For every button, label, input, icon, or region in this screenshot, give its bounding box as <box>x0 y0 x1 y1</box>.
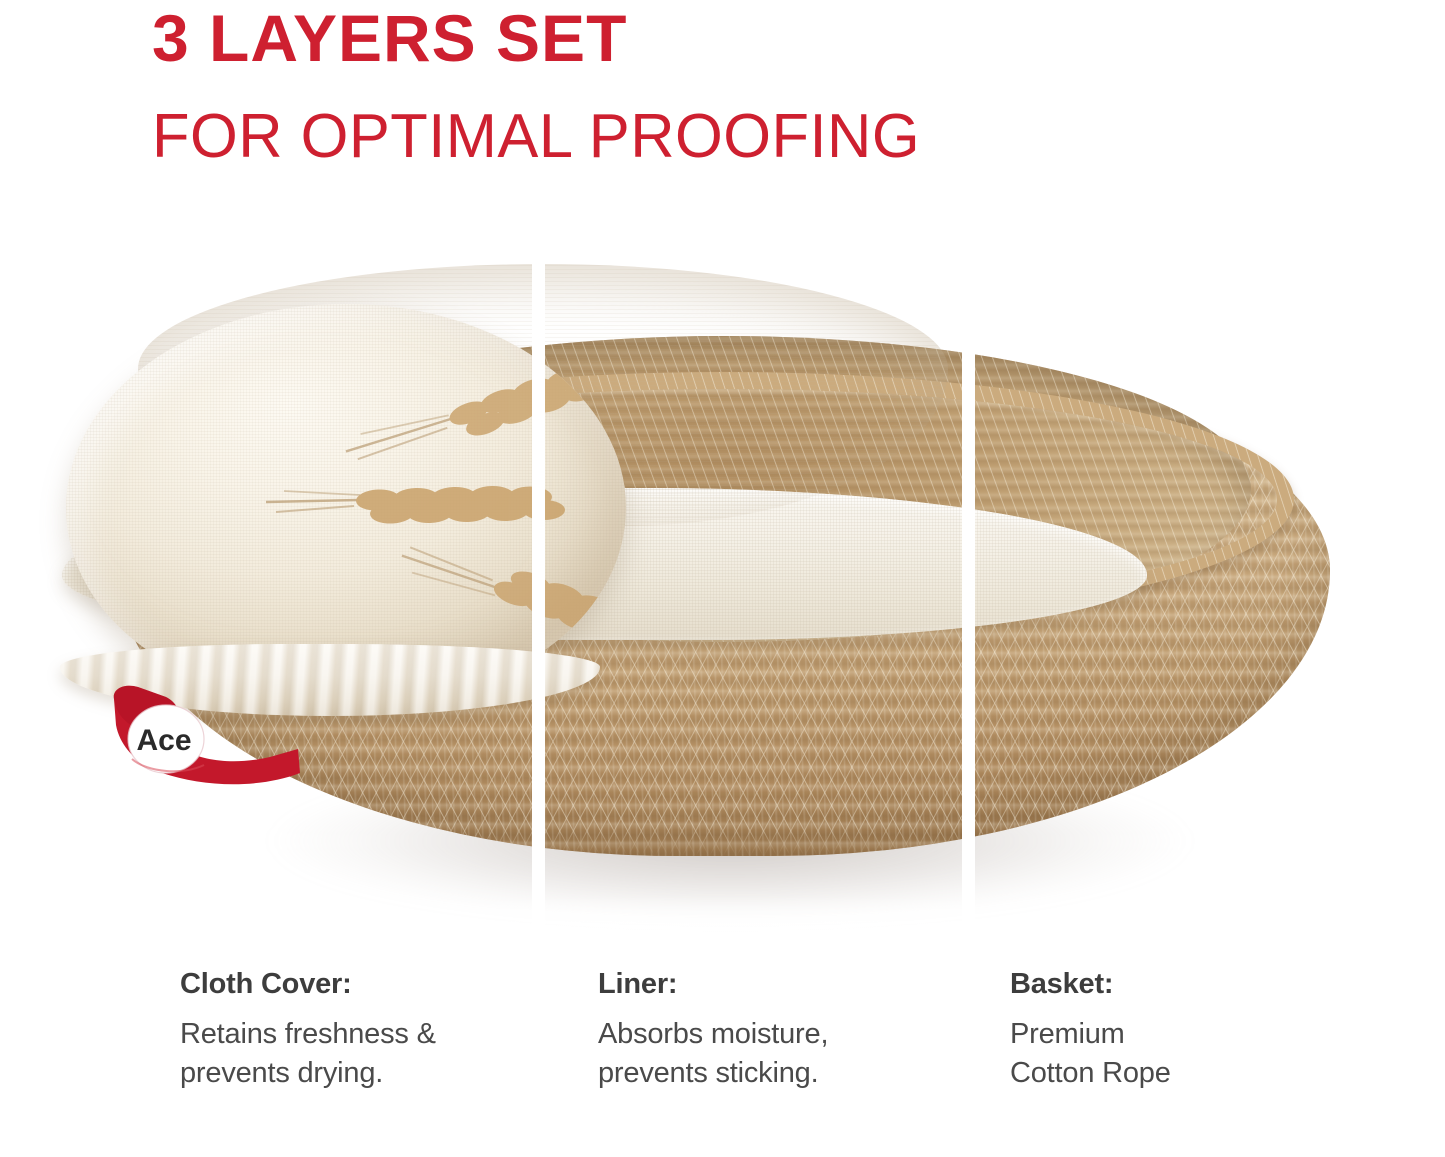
caption-cloth-cover: Cloth Cover: Retains freshness & prevent… <box>180 966 540 1092</box>
caption-body-line: Absorbs moisture, <box>598 1015 958 1053</box>
brand-hang-tag: Ace <box>108 681 304 799</box>
caption-body: Retains freshness & prevents drying. <box>180 1015 540 1092</box>
wheat-stalk-print-bottom <box>388 560 626 650</box>
headline-secondary: FOR OPTIMAL PROOFING <box>152 104 920 169</box>
wheat-stalk-print-top <box>334 378 626 458</box>
caption-body-line: Cotton Rope <box>1010 1054 1370 1092</box>
panel-divider-1 <box>532 226 545 966</box>
tag-brand-text: Ace <box>136 724 191 757</box>
caption-body-line: prevents sticking. <box>598 1054 958 1092</box>
captions-row: Cloth Cover: Retains freshness & prevent… <box>0 966 1445 1157</box>
stage-bottom-fade <box>0 896 1445 966</box>
caption-title: Liner: <box>598 966 958 1002</box>
caption-basket: Basket: Premium Cotton Rope <box>1010 966 1370 1092</box>
headline-block: 3 LAYERS SET FOR OPTIMAL PROOFING <box>0 0 1445 220</box>
caption-body: Absorbs moisture, prevents sticking. <box>598 1015 958 1092</box>
panel-divider-2 <box>962 226 975 966</box>
headline-primary: 3 LAYERS SET <box>152 4 627 73</box>
caption-title: Basket: <box>1010 966 1370 1002</box>
product-photo-stage: Ace <box>0 226 1445 966</box>
caption-body-line: Premium <box>1010 1015 1370 1053</box>
caption-body-line: prevents drying. <box>180 1054 540 1092</box>
caption-body: Premium Cotton Rope <box>1010 1015 1370 1092</box>
caption-title: Cloth Cover: <box>180 966 540 1002</box>
caption-body-line: Retains freshness & <box>180 1015 540 1053</box>
caption-liner: Liner: Absorbs moisture, prevents sticki… <box>598 966 958 1092</box>
